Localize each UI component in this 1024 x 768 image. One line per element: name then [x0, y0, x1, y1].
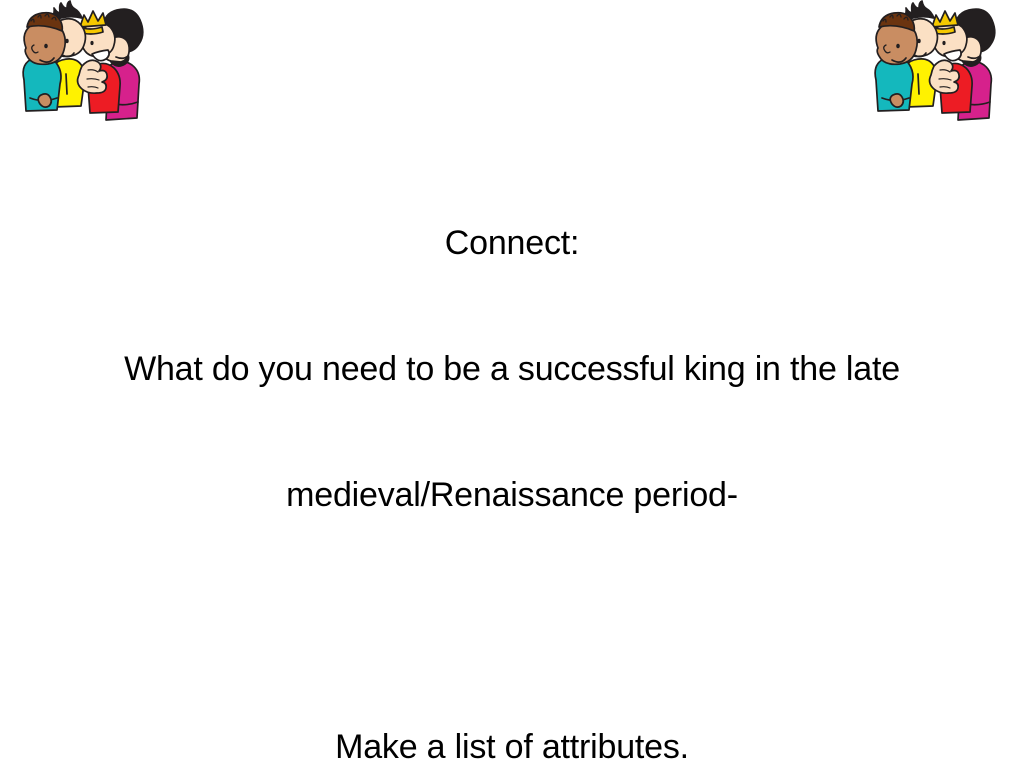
think-pair-share-clipart-left [4, 0, 154, 122]
text-line-task: Make a list of attributes. [0, 726, 1024, 768]
text-line-question-2: medieval/Renaissance period- [0, 474, 1024, 516]
slide-canvas: Connect: What do you need to be a succes… [0, 0, 1024, 768]
slide-body-text: Connect: What do you need to be a succes… [0, 138, 1024, 768]
text-line-connect: Connect: [0, 222, 1024, 264]
text-line-question-1: What do you need to be a successful king… [0, 348, 1024, 390]
think-pair-share-clipart-right [856, 0, 1006, 122]
